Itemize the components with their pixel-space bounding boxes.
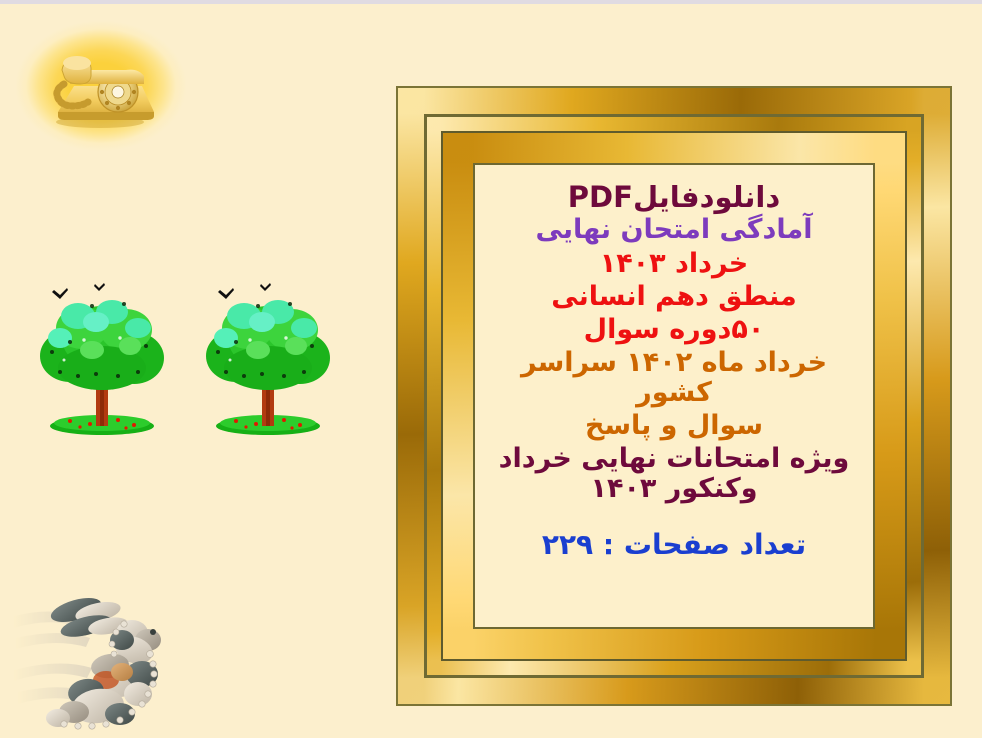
poster-line-date: خرداد ۱۴۰۳ <box>487 249 861 279</box>
frame-layer-outer-bevel: دانلودفایلPDF آمادگی امتحان نهایی خرداد … <box>398 88 950 704</box>
trees-decoration <box>34 276 360 448</box>
rotary-telephone-icon <box>34 46 164 132</box>
poster-line-title: دانلودفایلPDF <box>487 181 861 213</box>
frame-layer-inner-outline: دانلودفایلPDF آمادگی امتحان نهایی خرداد … <box>473 163 875 629</box>
poster-line-subtitle: آمادگی امتحان نهایی <box>487 215 861 245</box>
poster-line-subject: منطق دهم انسانی <box>487 282 861 312</box>
frame-layer-inner-scoop: دانلودفایلPDF آمادگی امتحان نهایی خرداد … <box>443 133 905 659</box>
frame-layer-rule-1: دانلودفایلPDF آمادگی امتحان نهایی خرداد … <box>424 114 924 678</box>
frame-layer-mid-bevel: دانلودفایلPDF آمادگی امتحان نهایی خرداد … <box>427 117 921 675</box>
poster-line-qa: سوال و پاسخ <box>487 411 861 441</box>
gold-picture-frame: دانلودفایلPDF آمادگی امتحان نهایی خرداد … <box>396 86 952 706</box>
poster-line-question-count: ۵۰دوره سوال <box>487 315 861 345</box>
poster-line-audience: ویژه امتحانات نهایی خرداد وکنکور ۱۴۰۳ <box>487 444 861 503</box>
poster-line-exam-period: خرداد ماه ۱۴۰۲ سراسر کشور <box>487 348 861 407</box>
telephone-decoration <box>8 12 194 160</box>
poster-canvas: دانلودفایلPDF آمادگی امتحان نهایی خرداد … <box>0 0 982 737</box>
pebble-rabbit-icon <box>14 588 204 738</box>
top-edge-strip <box>0 0 982 4</box>
frame-layer-outer-outline: دانلودفایلPDF آمادگی امتحان نهایی خرداد … <box>396 86 952 706</box>
poster-line-page-count: تعداد صفحات : ۲۲۹ <box>487 529 861 560</box>
frame-layer-rule-2: دانلودفایلPDF آمادگی امتحان نهایی خرداد … <box>441 131 907 661</box>
poster-mat: دانلودفایلPDF آمادگی امتحان نهایی خرداد … <box>475 165 873 627</box>
